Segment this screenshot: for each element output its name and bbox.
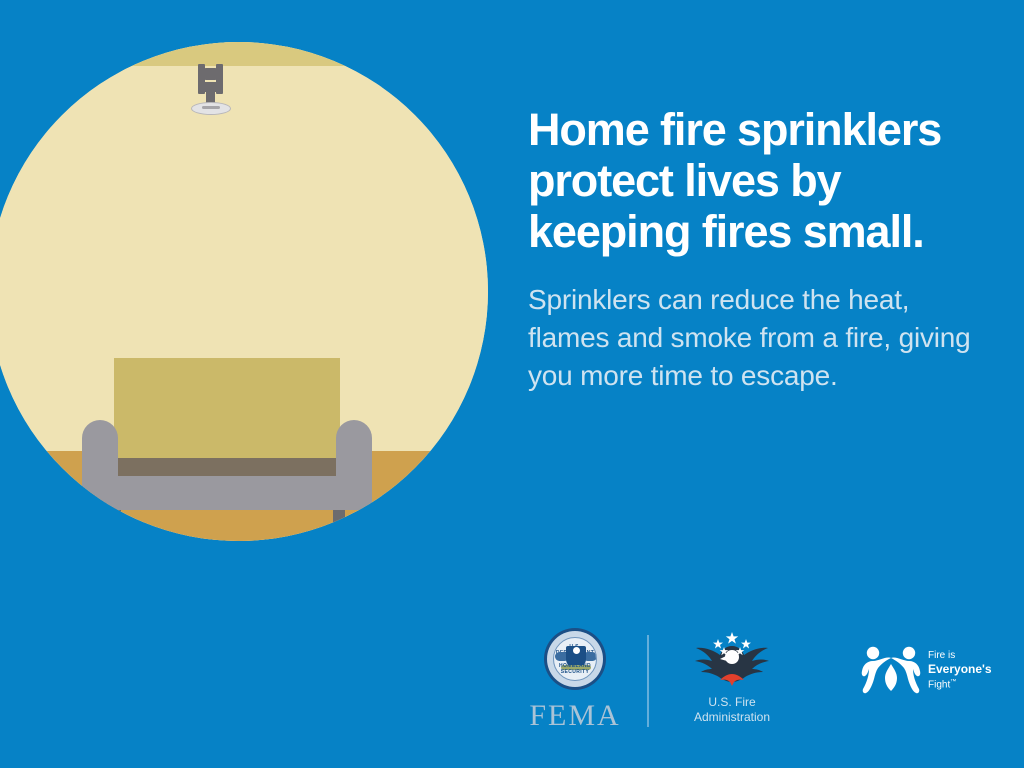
usfa-star-left-outer bbox=[713, 639, 723, 649]
couch-arm-right bbox=[336, 420, 372, 510]
fire-is-everyones-fight-logo: Fire is Everyone's Fight™ bbox=[860, 644, 1020, 704]
couch-illustration bbox=[82, 358, 372, 528]
usfa-star-top bbox=[726, 632, 738, 644]
page-subtitle: Sprinklers can reduce the heat, flames a… bbox=[528, 281, 998, 395]
couch-leg-right bbox=[333, 507, 345, 534]
center-flame-shape bbox=[885, 664, 897, 691]
couch-arm-left bbox=[82, 420, 118, 510]
illustration-circle bbox=[0, 42, 488, 541]
fema-logo: U.S. DEPARTMENT OF HOMELAND SECURITY FEM… bbox=[515, 628, 635, 732]
fire-sprinkler-icon bbox=[185, 64, 237, 118]
usfa-caption: U.S. Fire Administration bbox=[672, 695, 792, 725]
campaign-tagline: Fire is Everyone's Fight™ bbox=[928, 650, 992, 691]
trademark-symbol: ™ bbox=[950, 679, 956, 685]
usfa-caption-line1: U.S. Fire bbox=[672, 695, 792, 710]
campaign-line1: Fire is bbox=[928, 650, 992, 662]
dhs-seal-inner: U.S. DEPARTMENT OF HOMELAND SECURITY bbox=[553, 637, 597, 681]
couch-back-cushion bbox=[114, 358, 340, 468]
logo-divider bbox=[647, 635, 649, 727]
dhs-seal-bottom-text: HOMELAND SECURITY bbox=[554, 663, 596, 675]
figure-left-head bbox=[867, 647, 879, 659]
sprinkler-deflector-slot bbox=[202, 106, 220, 109]
sprinkler-nub bbox=[204, 68, 217, 80]
dhs-eagle-head bbox=[573, 647, 580, 654]
usfa-eagle-head bbox=[725, 650, 739, 664]
campaign-line3-wrap: Fight™ bbox=[928, 676, 992, 691]
usfa-eagle-icon bbox=[682, 630, 782, 692]
campaign-line3: Fight bbox=[928, 679, 950, 690]
usfa-eagle-svg bbox=[682, 630, 782, 692]
couch-leg-left bbox=[109, 507, 121, 534]
usfa-caption-line2: Administration bbox=[672, 710, 792, 725]
poster-canvas: Home fire sprinklers protect lives by ke… bbox=[0, 0, 1024, 768]
usfa-logo: U.S. Fire Administration bbox=[672, 630, 792, 725]
two-figures-flame-icon bbox=[860, 644, 922, 696]
figure-right-head bbox=[903, 647, 915, 659]
room-ceiling bbox=[0, 42, 488, 66]
footer-logo-bar: U.S. DEPARTMENT OF HOMELAND SECURITY FEM… bbox=[500, 624, 1024, 744]
campaign-line2: Everyone's bbox=[928, 662, 992, 676]
couch-base bbox=[100, 476, 354, 510]
two-figures-flame-svg bbox=[860, 644, 922, 696]
usfa-star-right-outer bbox=[741, 639, 751, 649]
fema-wordmark: FEMA bbox=[515, 700, 635, 732]
dhs-seal-icon: U.S. DEPARTMENT OF HOMELAND SECURITY bbox=[544, 628, 606, 690]
page-title: Home fire sprinklers protect lives by ke… bbox=[528, 104, 998, 257]
